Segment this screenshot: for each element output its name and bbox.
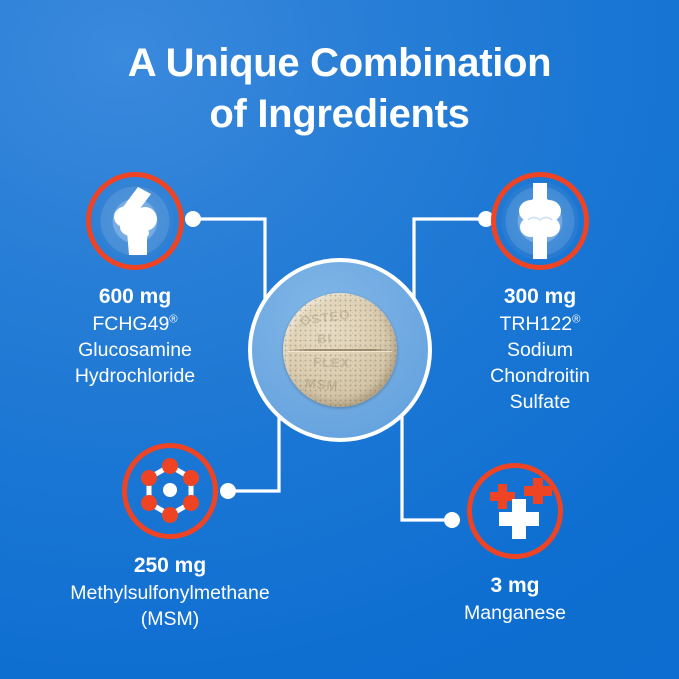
ingredient-label-chondroitin: 300 mg TRH122® Sodium Chondroitin Sulfat… <box>415 283 665 416</box>
emboss-line-2: BI <box>317 331 333 347</box>
ingredient-line: Glucosamine <box>10 338 260 364</box>
ingredient-label-manganese: 3 mg Manganese <box>390 572 640 627</box>
ingredient-node-msm: 250 mg Methylsulfonylmethane (MSM) <box>45 443 295 633</box>
ingredient-line: Sodium <box>415 338 665 364</box>
ingredient-label-glucosamine: 600 mg FCHG49® Glucosamine Hydrochloride <box>10 283 260 390</box>
ingredient-line: Sulfate <box>415 390 665 416</box>
medical-cross-icon <box>478 478 552 544</box>
ingredient-line: Methylsulfonylmethane <box>45 581 295 607</box>
ingredient-line: Hydrochloride <box>10 364 260 390</box>
emboss-line-3: FLEX <box>313 354 351 370</box>
supplement-tablet: OSTEO BI FLEX MSM <box>283 293 397 407</box>
ingredient-node-glucosamine: 600 mg FCHG49® Glucosamine Hydrochloride <box>10 172 260 390</box>
emboss-line-4: MSM <box>304 375 339 393</box>
ingredient-amount: 250 mg <box>45 552 295 580</box>
ingredient-amount: 3 mg <box>390 572 640 600</box>
ingredients-infographic: A Unique Combination of Ingredients OSTE… <box>0 0 679 679</box>
icon-circle-chondroitin <box>491 172 589 270</box>
icon-circle-manganese <box>467 463 563 559</box>
center-tablet-circle: OSTEO BI FLEX MSM <box>248 258 432 442</box>
ingredient-line: Chondroitin <box>415 364 665 390</box>
ingredient-line: (MSM) <box>45 607 295 633</box>
tablet-score-line <box>288 349 393 351</box>
emboss-line-1: OSTEO <box>299 307 351 329</box>
ingredient-node-chondroitin: 300 mg TRH122® Sodium Chondroitin Sulfat… <box>415 172 665 416</box>
ingredient-amount: 600 mg <box>10 283 260 311</box>
ingredient-label-msm: 250 mg Methylsulfonylmethane (MSM) <box>45 552 295 633</box>
trademark-symbol: ® <box>169 313 177 325</box>
ingredient-line: Manganese <box>390 601 640 627</box>
icon-circle-msm <box>122 443 218 539</box>
ingredient-line: FCHG49® <box>10 312 260 338</box>
molecule-icon <box>135 456 205 526</box>
ingredient-node-manganese: 3 mg Manganese <box>390 463 640 627</box>
ingredient-line: TRH122® <box>415 312 665 338</box>
knee-joint-icon <box>107 185 163 257</box>
bone-joint-icon <box>517 183 563 259</box>
ingredient-amount: 300 mg <box>415 283 665 311</box>
trademark-symbol: ® <box>572 313 580 325</box>
icon-circle-glucosamine <box>86 172 184 270</box>
